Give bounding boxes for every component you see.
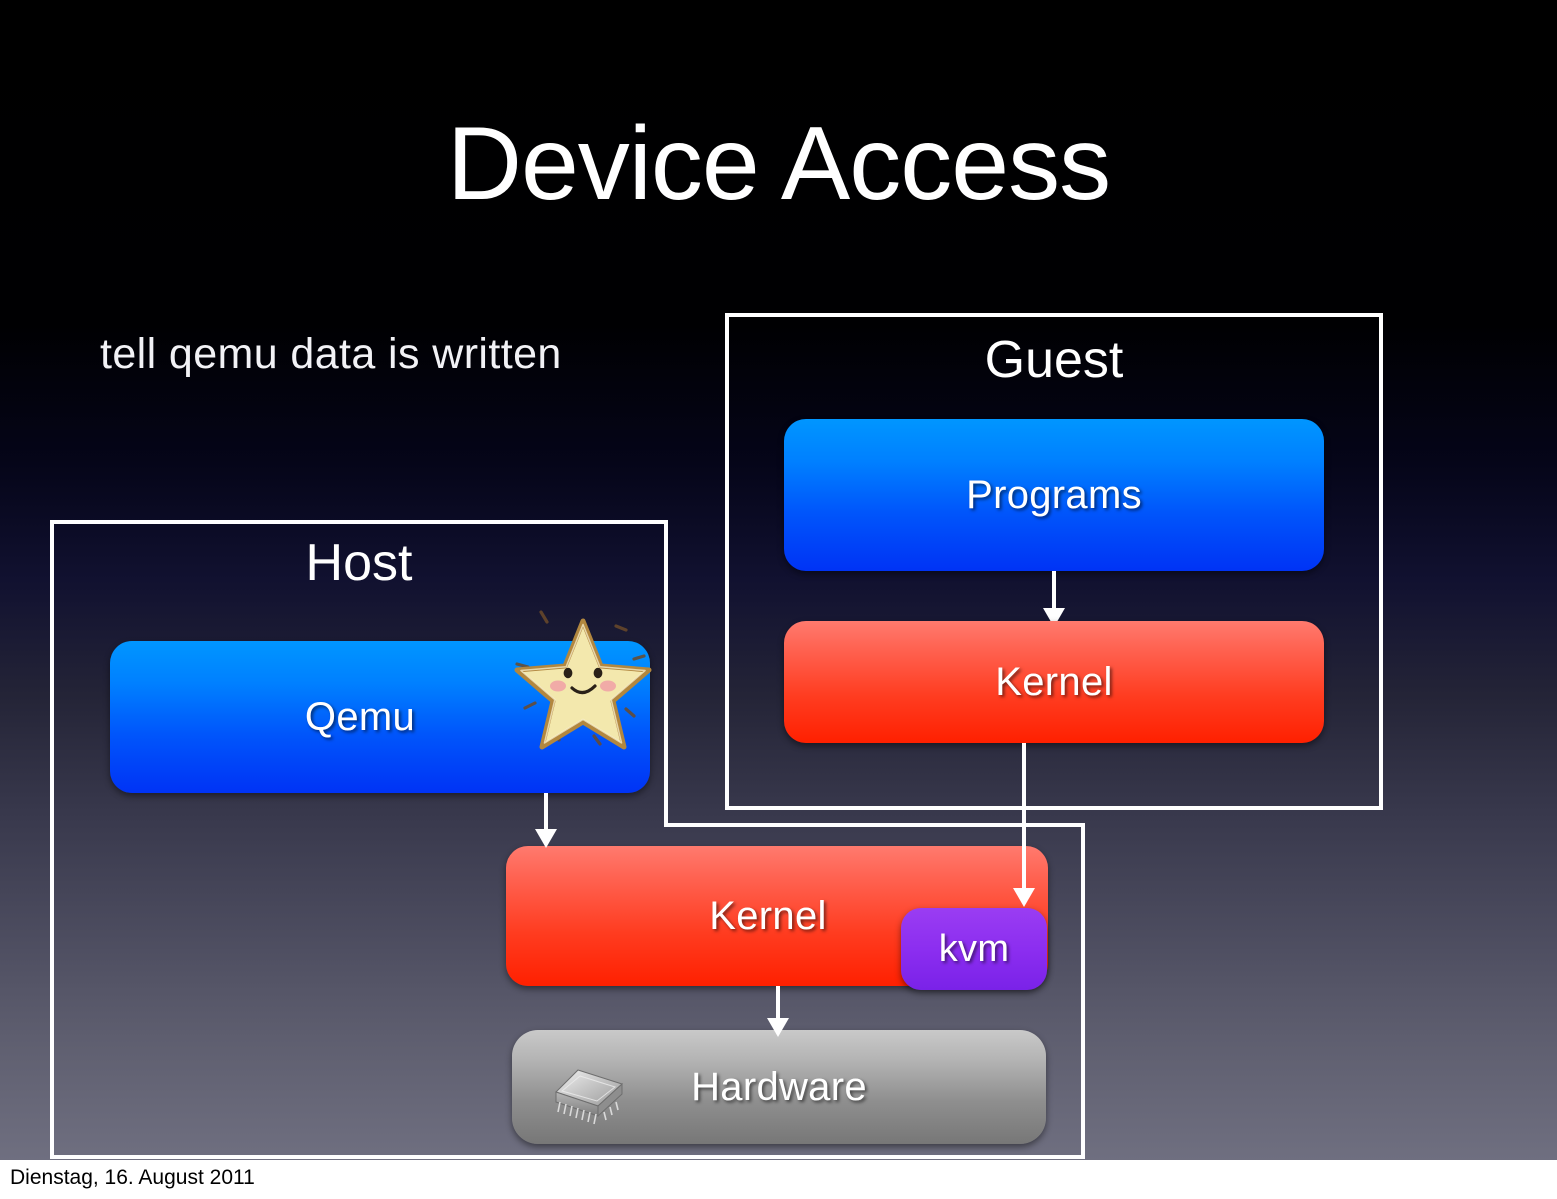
guest-frame-top <box>725 313 1383 317</box>
cpu-chip-icon <box>548 1062 630 1132</box>
footer-date: Dienstag, 16. August 2011 <box>10 1166 255 1190</box>
arrow-host-kernel-to-hardware-head <box>767 1018 789 1037</box>
caption-text: tell qemu data is written <box>100 330 562 379</box>
guest-programs-box[interactable]: Programs <box>784 419 1324 571</box>
arrow-qemu-to-host-kernel-head <box>535 829 557 848</box>
host-frame-left <box>50 520 54 1159</box>
arrow-guest-kernel-to-kvm-shaft <box>1022 743 1026 898</box>
host-kvm-box[interactable]: kvm <box>901 908 1047 990</box>
star-sticker-icon <box>508 604 658 754</box>
host-kernel-label: Kernel <box>709 894 826 939</box>
host-group-label: Host <box>50 533 668 593</box>
slide-canvas: Device Access tell qemu data is written … <box>0 0 1557 1160</box>
host-frame-top <box>50 520 668 524</box>
footer-bar: Dienstag, 16. August 2011 <box>0 1160 1557 1199</box>
guest-group-label: Guest <box>725 330 1383 390</box>
guest-programs-label: Programs <box>966 473 1142 518</box>
host-qemu-label: Qemu <box>305 695 415 740</box>
host-hardware-label: Hardware <box>691 1065 867 1110</box>
host-frame-bottom <box>50 1155 1085 1159</box>
arrow-guest-kernel-to-kvm-head <box>1013 888 1035 907</box>
page-title: Device Access <box>0 108 1557 220</box>
host-kvm-label: kvm <box>939 928 1010 971</box>
guest-frame-bottom <box>725 806 1383 810</box>
host-frame-right-lower <box>1081 823 1085 1159</box>
guest-kernel-box[interactable]: Kernel <box>784 621 1324 743</box>
guest-kernel-label: Kernel <box>995 660 1112 705</box>
